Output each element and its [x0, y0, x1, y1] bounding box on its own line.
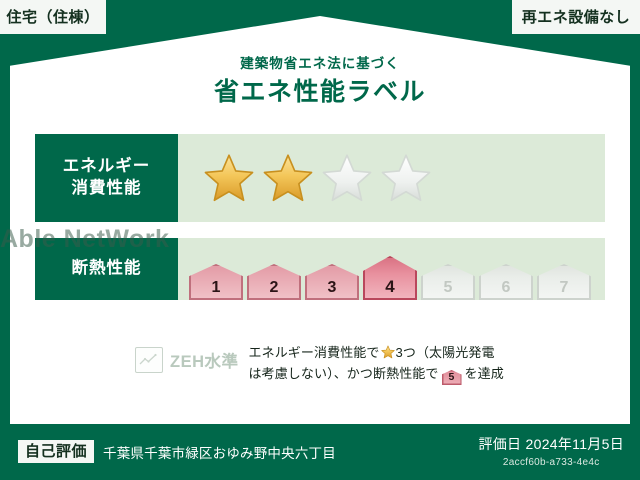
insulation-grade-scale: 1 2 3 4 5 6 7 — [178, 238, 591, 300]
zeh-desc-star-count: 3つ（太陽光発電 — [396, 345, 495, 360]
zeh-mark-icon — [135, 347, 163, 373]
insulation-performance-row: 断熱性能 1 2 3 4 5 6 7 — [35, 238, 605, 300]
star-rating — [178, 152, 432, 204]
energy-performance-label-box: エネルギー 消費性能 — [35, 134, 178, 222]
insulation-grade-2: 2 — [247, 264, 301, 300]
zeh-desc-part2: は考慮しない）、かつ断熱性能で — [249, 366, 439, 381]
title-main: 省エネ性能ラベル — [0, 79, 640, 107]
zeh-description: エネルギー消費性能で3つ（太陽光発電は考慮しない）、かつ断熱性能で5を達成 — [249, 340, 504, 385]
zeh-desc-part3: を達成 — [465, 366, 504, 381]
energy-performance-value — [178, 134, 605, 222]
insulation-performance-value: 1 2 3 4 5 6 7 — [178, 238, 605, 300]
zeh-desc-grade-badge: 5 — [442, 370, 462, 385]
footer-right-group: 評価日 2024年11月5日 2accf60b-a733-4e4c — [478, 434, 624, 468]
zeh-standard-block: ZEH水準 エネルギー消費性能で3つ（太陽光発電は考慮しない）、かつ断熱性能で5… — [135, 340, 605, 385]
star-icon — [262, 152, 314, 204]
zeh-mark-label: ZEH水準 — [170, 348, 239, 372]
star-icon — [380, 152, 432, 204]
insulation-grade-5: 5 — [421, 264, 475, 300]
energy-performance-row: エネルギー 消費性能 — [35, 134, 605, 222]
insulation-grade-3: 3 — [305, 264, 359, 300]
zeh-desc-part1: エネルギー消費性能で — [249, 345, 380, 360]
insulation-grade-1: 1 — [189, 264, 243, 300]
energy-label-line1: エネルギー — [63, 156, 151, 178]
housing-type-badge: 住宅（住棟） — [0, 0, 106, 34]
star-icon — [321, 152, 373, 204]
insulation-performance-label-box: 断熱性能 — [35, 238, 178, 300]
evaluation-address: 千葉県千葉市緑区おゆみ野中央六丁目 — [103, 442, 336, 462]
energy-performance-label: 住宅（住棟） 再エネ設備なし 建築物省エネ法に基づく 省エネ性能ラベル エネルギ… — [0, 0, 640, 480]
evaluation-id: 2accf60b-a733-4e4c — [478, 457, 624, 468]
zeh-mark: ZEH水準 — [135, 340, 239, 373]
star-icon — [381, 345, 395, 359]
insulation-grade-6: 6 — [479, 264, 533, 300]
label-footer: 自己評価 千葉県千葉市緑区おゆみ野中央六丁目 評価日 2024年11月5日 2a… — [0, 424, 640, 480]
star-icon — [203, 152, 255, 204]
insulation-label-line1: 断熱性能 — [72, 258, 142, 280]
evaluation-type-badge: 自己評価 — [18, 440, 94, 463]
evaluation-date: 評価日 2024年11月5日 — [478, 434, 624, 454]
energy-label-line2: 消費性能 — [72, 178, 142, 200]
title-subtitle: 建築物省エネ法に基づく — [0, 57, 640, 72]
renewable-equipment-badge: 再エネ設備なし — [512, 0, 640, 34]
label-title-block: 建築物省エネ法に基づく 省エネ性能ラベル — [0, 57, 640, 106]
insulation-grade-4: 4 — [363, 256, 417, 300]
insulation-grade-7: 7 — [537, 264, 591, 300]
footer-left-group: 自己評価 千葉県千葉市緑区おゆみ野中央六丁目 — [18, 440, 336, 463]
